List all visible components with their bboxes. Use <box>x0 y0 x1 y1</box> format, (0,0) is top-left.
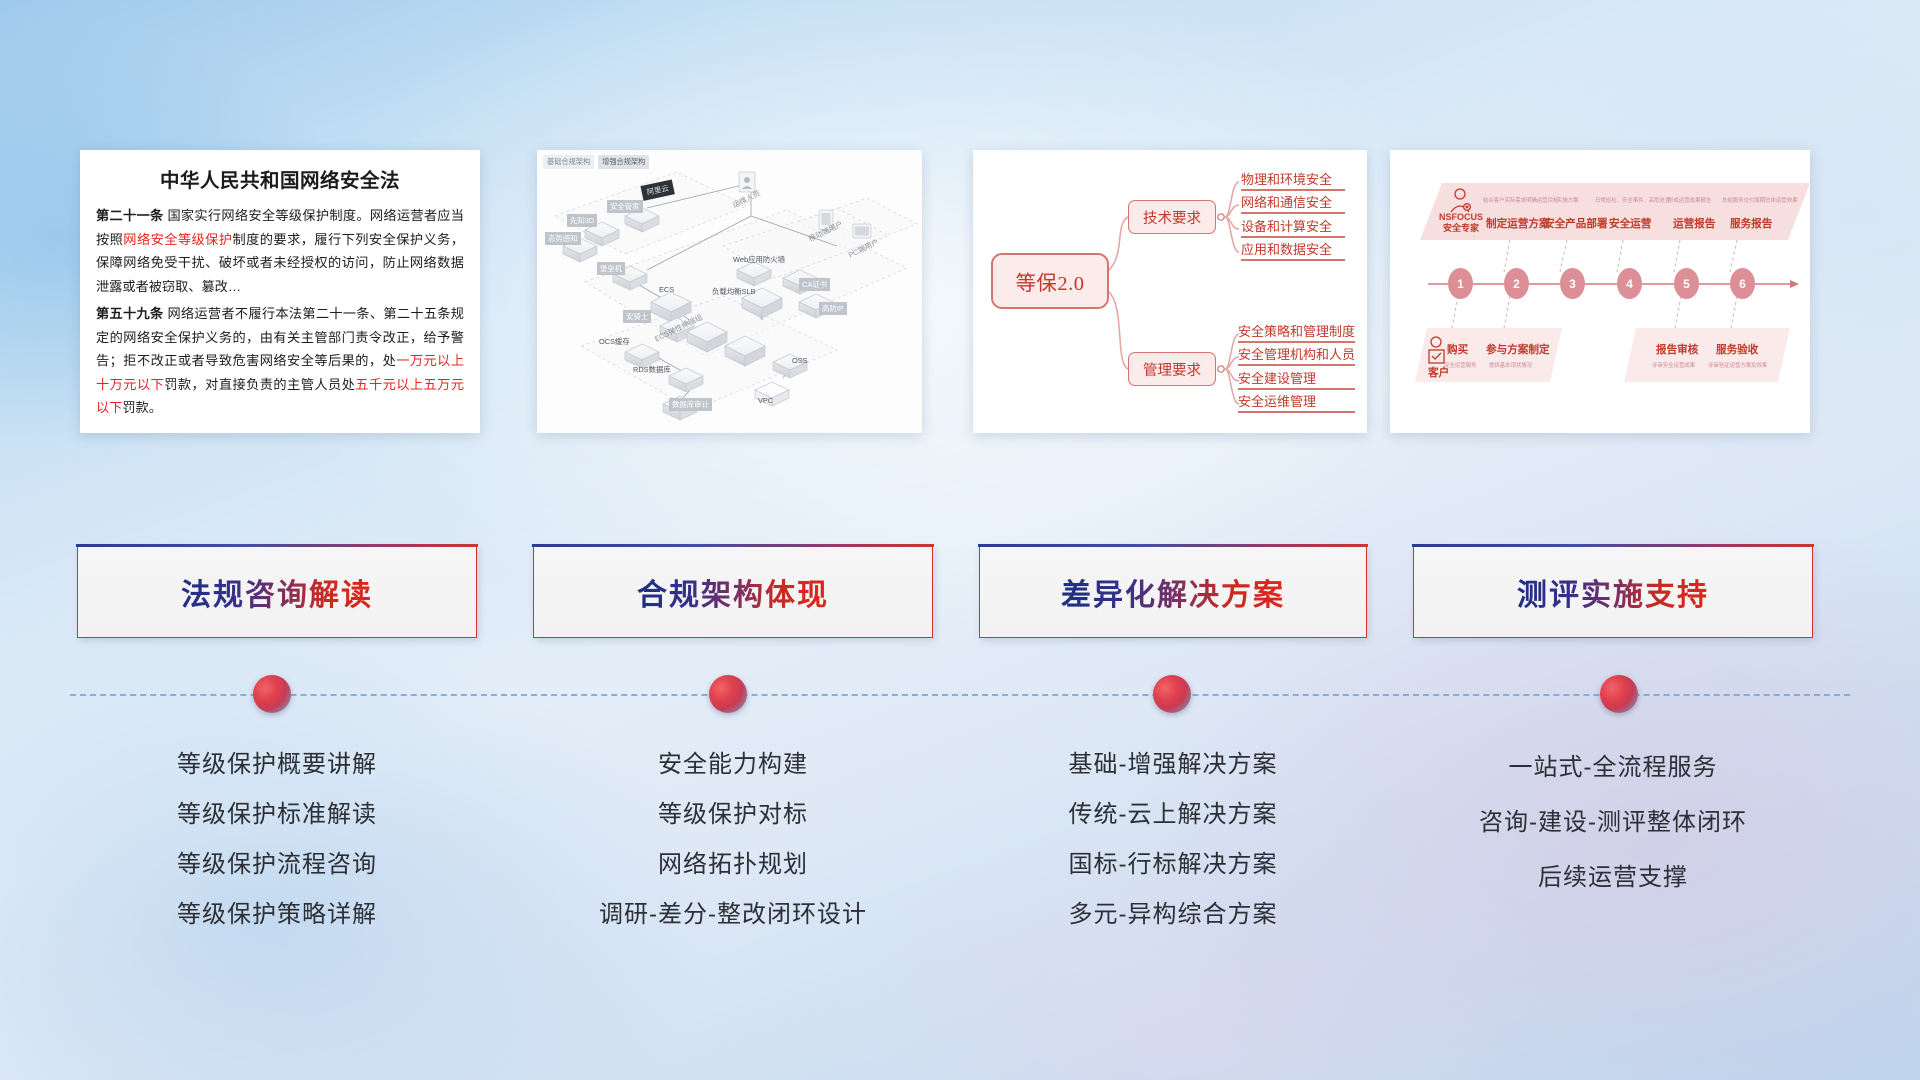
mindmap-leaf-tech-1: 物理和环境安全 <box>1241 169 1345 191</box>
mindmap-leaf-mgmt-3: 安全建设管理 <box>1238 368 1355 390</box>
list-item: 等级保护对标 <box>533 790 933 840</box>
title-text-2: 合规架构体现 <box>637 570 829 614</box>
architecture-node-ca-cert: CA证书 <box>799 278 830 291</box>
nsfocus-top-sub-2: 结合客户实际需求明确运营目标 <box>1483 196 1558 204</box>
nsfocus-top-sub-6: 总结服务交付周期总体运营效果 <box>1722 196 1797 204</box>
nsfocus-step-number-3: 3 <box>1560 268 1585 299</box>
mindmap-leaf-tech-2: 网络和通信安全 <box>1241 192 1345 214</box>
nsfocus-top-sub-4: 日常巡检、安全事件、高危处置 <box>1595 196 1670 204</box>
nsfocus-top-title-2: 制定运营方案 <box>1486 216 1550 231</box>
law-article-59-text-b: 罚款，对直接负责的主管人员处 <box>164 377 355 392</box>
law-article-21-label: 第二十一条 <box>96 208 163 223</box>
nsfocus-bottom-sub-6: 评审验证运营方案及效果 <box>1708 361 1767 369</box>
feature-list-column-4: 一站式-全流程服务 咨询-建设-测评整体闭环 后续运营支撑 <box>1413 740 1813 905</box>
list-item: 多元-异构综合方案 <box>979 890 1367 940</box>
list-item: 传统-云上解决方案 <box>979 790 1367 840</box>
architecture-node-anti-ddos-ip: 高防IP <box>819 302 847 315</box>
nsfocus-top-sub-3: 实施方案 <box>1557 196 1579 204</box>
timeline-row <box>0 665 1920 725</box>
architecture-node-waf: Web应用防火墙 <box>733 254 785 265</box>
mindmap-branch-management: 管理要求 <box>1128 352 1216 386</box>
timeline-dot-2[interactable] <box>709 675 747 713</box>
timeline-dot-4[interactable] <box>1600 675 1638 713</box>
architecture-node-taishiganzhi: 态势感知 <box>545 232 581 245</box>
architecture-node-slb: 负载均衡SLB <box>712 286 756 297</box>
nsfocus-step-number-2: 2 <box>1504 268 1529 299</box>
list-item: 一站式-全流程服务 <box>1413 740 1813 795</box>
law-article-59: 第五十九条 网络运营者不履行本法第二十一条、第二十五条规定的网络安全保护义务的，… <box>96 302 464 420</box>
architecture-node-ocs-cache: OCS缓存 <box>599 336 630 347</box>
mindmap-leaf-mgmt-4: 安全运维管理 <box>1238 391 1355 413</box>
nsfocus-bottom-band-right <box>1624 328 1790 382</box>
nsfocus-bottom-sub-2: 提供基本现状情况 <box>1489 361 1532 369</box>
nsfocus-brand: NSFOCUS 安全专家 <box>1430 212 1492 234</box>
feature-list-column-2: 安全能力构建 等级保护对标 网络拓扑规划 调研-差分-整改闭环设计 <box>533 740 933 940</box>
list-item: 后续运营支撑 <box>1413 850 1813 905</box>
nsfocus-step-number-5: 5 <box>1674 268 1699 299</box>
architecture-node-baoleiji: 堡垒机 <box>597 262 625 275</box>
architecture-node-xianzhi3d: 先知3D <box>567 214 597 227</box>
nsfocus-step-number-1: 1 <box>1448 268 1473 299</box>
list-item: 调研-差分-整改闭环设计 <box>533 890 933 940</box>
nsfocus-bottom-title-1: 购买 <box>1447 342 1468 357</box>
nsfocus-bottom-title-6: 服务验收 <box>1716 342 1758 357</box>
timeline-dot-3[interactable] <box>1153 675 1191 713</box>
timeline-dashed-line <box>70 694 1850 696</box>
title-box-3[interactable]: 差异化解决方案 <box>979 545 1367 638</box>
title-box-2[interactable]: 合规架构体现 <box>533 545 933 638</box>
nsfocus-step-number-4: 4 <box>1617 268 1642 299</box>
mindmap: 等保2.0 技术要求 管理要求 物理和环境安全 网络和通信安全 设备和计算安全 … <box>973 150 1367 433</box>
nsfocus-step-number-6: 6 <box>1730 268 1755 299</box>
screenshot-card-row: 中华人民共和国网络安全法 第二十一条 国家实行网络安全等级保护制度。网络运营者应… <box>0 150 1920 440</box>
mindmap-root-node: 等保2.0 <box>991 253 1109 309</box>
architecture-node-ecs: ECS <box>659 285 674 294</box>
architecture-node-anquanguanjia: 安全管家 <box>607 200 643 213</box>
list-item: 等级保护概要讲解 <box>77 740 477 790</box>
list-item: 安全能力构建 <box>533 740 933 790</box>
architecture-node-vpc: VPC <box>758 396 773 405</box>
mindmap-branch-technical: 技术要求 <box>1128 200 1216 234</box>
nsfocus-top-title-5: 运营报告 <box>1673 216 1715 231</box>
list-item: 国标-行标解决方案 <box>979 840 1367 890</box>
architecture-node-anqishi: 安骑士 <box>623 310 651 323</box>
list-item: 咨询-建设-测评整体闭环 <box>1413 795 1813 850</box>
law-article-21-highlight: 网络安全等级保护 <box>123 232 232 247</box>
law-article-21: 第二十一条 国家实行网络安全等级保护制度。网络运营者应当按照网络安全等级保护制度… <box>96 204 464 298</box>
card-nsfocus-service-flow: NSFOCUS 安全专家 客户 结合客户实际需求明确运营目标 制定运营方案 实施… <box>1390 150 1810 433</box>
card-mindmap-dengbao: 等保2.0 技术要求 管理要求 物理和环境安全 网络和通信安全 设备和计算安全 … <box>973 150 1367 433</box>
nsfocus-brand-line1: NSFOCUS <box>1439 212 1483 222</box>
card-cloud-architecture: 基础合规架构 增强合规架构 <box>537 150 922 433</box>
nsfocus-timeline: NSFOCUS 安全专家 客户 结合客户实际需求明确运营目标 制定运营方案 实施… <box>1390 150 1810 433</box>
nsfocus-top-title-6: 服务报告 <box>1730 216 1772 231</box>
mindmap-leaf-mgmt-2: 安全管理机构和人员 <box>1238 344 1355 366</box>
architecture-node-db-audit: 数据库审计 <box>669 398 712 411</box>
title-text-3: 差异化解决方案 <box>1061 570 1285 614</box>
nsfocus-top-sub-5: 形成运营成果报告 <box>1668 196 1711 204</box>
law-article-59-text-c: 罚款。 <box>122 400 162 415</box>
title-box-4[interactable]: 测评实施支持 <box>1413 545 1813 638</box>
title-box-1[interactable]: 法规咨询解读 <box>77 545 477 638</box>
nsfocus-top-title-3: 安全产品部署 <box>1544 216 1608 231</box>
feature-list-column-1: 等级保护概要讲解 等级保护标准解读 等级保护流程咨询 等级保护策略详解 <box>77 740 477 940</box>
nsfocus-top-title-4: 安全运营 <box>1609 216 1651 231</box>
list-item: 基础-增强解决方案 <box>979 740 1367 790</box>
mindmap-leaf-tech-4: 应用和数据安全 <box>1241 239 1345 261</box>
mindmap-leaf-tech-3: 设备和计算安全 <box>1241 216 1345 238</box>
law-document-title: 中华人民共和国网络安全法 <box>96 164 464 193</box>
card-cybersecurity-law: 中华人民共和国网络安全法 第二十一条 国家实行网络安全等级保护制度。网络运营者应… <box>80 150 480 433</box>
list-item: 网络拓扑规划 <box>533 840 933 890</box>
architecture-node-oss: OSS <box>792 356 808 365</box>
architecture-diagram: 基础合规架构 增强合规架构 <box>537 150 922 433</box>
title-text-1: 法规咨询解读 <box>181 570 373 614</box>
timeline-dot-1[interactable] <box>253 675 291 713</box>
nsfocus-bottom-title-2: 参与方案制定 <box>1486 342 1550 357</box>
title-box-row: 法规咨询解读 合规架构体现 差异化解决方案 测评实施支持 <box>0 545 1920 645</box>
nsfocus-brand-line2: 安全专家 <box>1443 223 1479 233</box>
feature-list-column-3: 基础-增强解决方案 传统-云上解决方案 国标-行标解决方案 多元-异构综合方案 <box>979 740 1367 940</box>
list-item: 等级保护标准解读 <box>77 790 477 840</box>
nsfocus-bottom-sub-5: 评审安全运营成果 <box>1652 361 1695 369</box>
title-text-4: 测评实施支持 <box>1517 570 1709 614</box>
nsfocus-bottom-title-5: 报告审核 <box>1656 342 1698 357</box>
architecture-node-rds: RDS数据库 <box>633 364 671 375</box>
feature-list-row: 等级保护概要讲解 等级保护标准解读 等级保护流程咨询 等级保护策略详解 安全能力… <box>0 740 1920 980</box>
nsfocus-bottom-sub-1: 安全运营服务 <box>1444 361 1476 369</box>
list-item: 等级保护策略详解 <box>77 890 477 940</box>
law-article-59-label: 第五十九条 <box>96 306 163 321</box>
list-item: 等级保护流程咨询 <box>77 840 477 890</box>
mindmap-leaf-mgmt-1: 安全策略和管理制度 <box>1238 321 1355 343</box>
law-document: 中华人民共和国网络安全法 第二十一条 国家实行网络安全等级保护制度。网络运营者应… <box>80 150 480 433</box>
